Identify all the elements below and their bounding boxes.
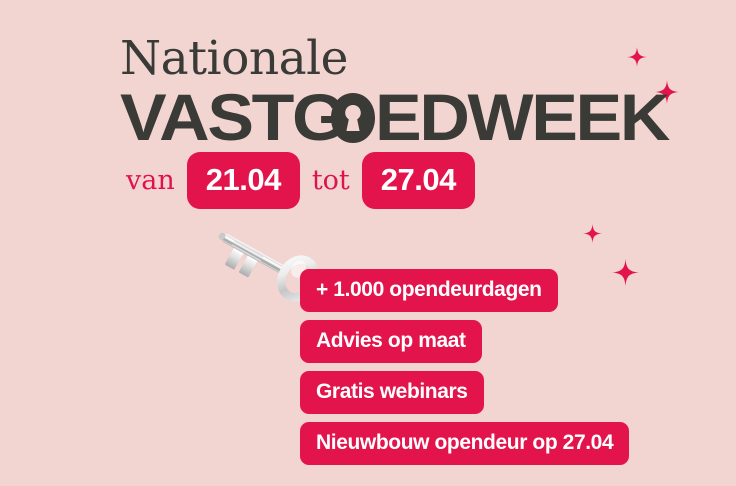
feature-pill-0: + 1.000 opendeurdagen [300, 269, 558, 312]
sparkle-icon-mid-right-1 [583, 224, 602, 243]
date-from-badge: 21.04 [187, 152, 300, 209]
page-title-segment-after-keyhole: EDWEEK [375, 86, 668, 149]
feature-pill-1: Advies op maat [300, 320, 482, 363]
date-range: van 21.04 tot 27.04 [126, 152, 475, 209]
page-title-segment-before-keyhole: VASTG [120, 86, 344, 149]
feature-pill-3: Nieuwbouw opendeur op 27.04 [300, 422, 629, 465]
page-title-line1: Nationale [120, 36, 680, 82]
date-from-label: van [126, 167, 175, 194]
feature-list: + 1.000 opendeurdagen Advies op maat Gra… [300, 269, 629, 465]
page-title-line2: VASTG EDWEEK [120, 86, 680, 149]
date-to-label: tot [312, 167, 350, 194]
keyhole-icon [330, 93, 376, 143]
date-to-badge: 27.04 [362, 152, 475, 209]
feature-pill-2: Gratis webinars [300, 371, 484, 414]
promo-banner: Nationale VASTG EDWEEK van 21.04 tot 27.… [0, 0, 736, 486]
headline-block: Nationale VASTG EDWEEK [120, 36, 680, 149]
